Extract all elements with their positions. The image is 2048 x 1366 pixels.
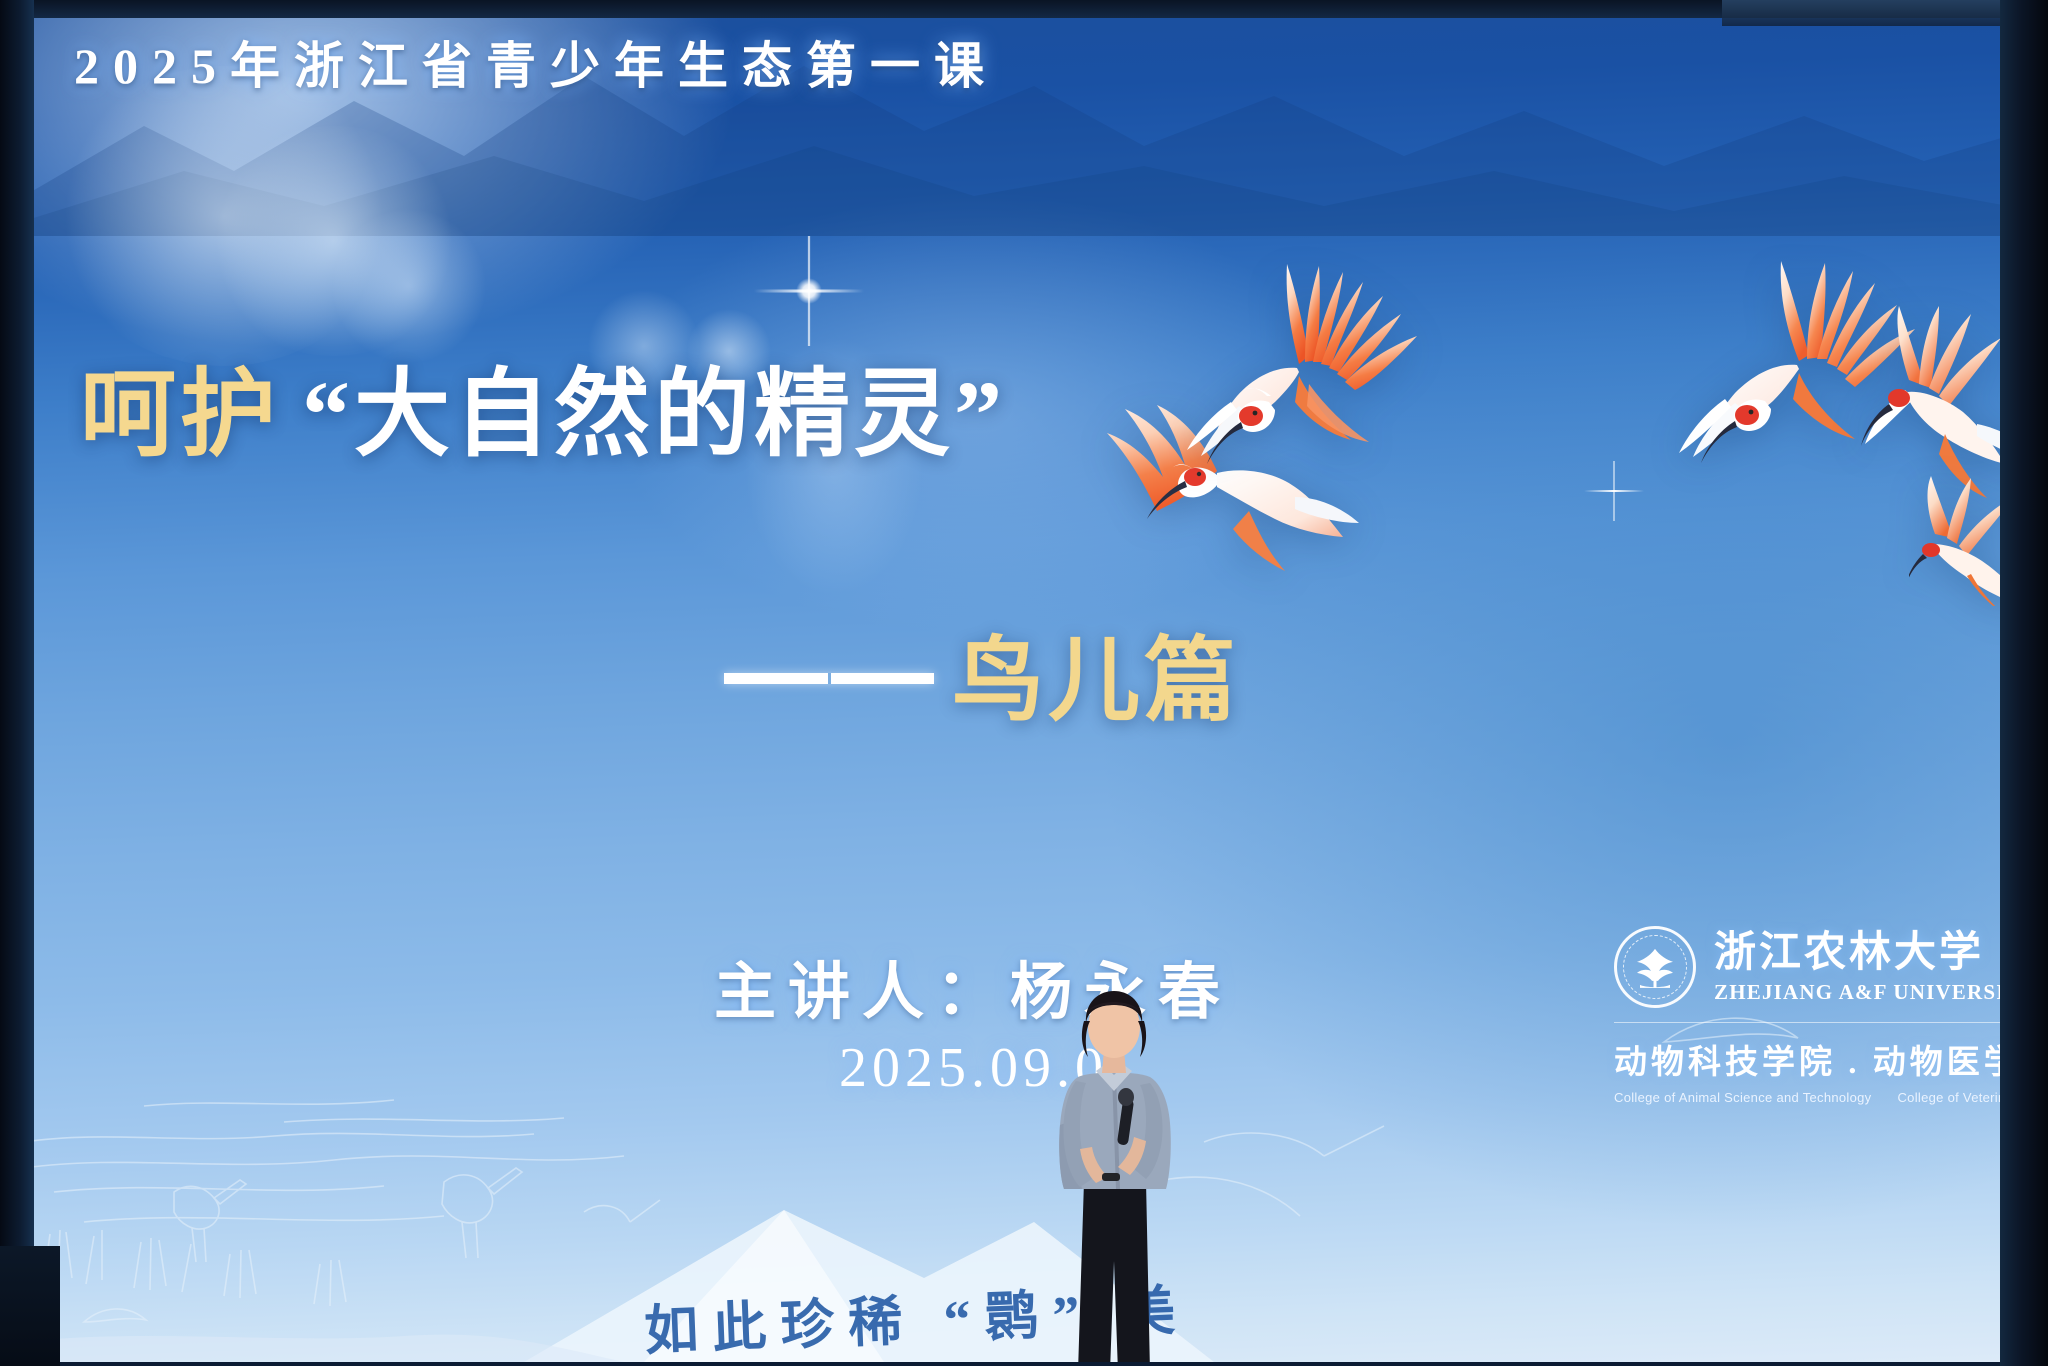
subtitle-text: 鸟儿篇	[952, 630, 1240, 732]
logo-divider	[1614, 1022, 2008, 1023]
crested-ibis-bird	[1909, 476, 2008, 606]
title-gold-part: 呵护	[80, 361, 280, 468]
college-name-en-2: College of Veterinary Medicine	[1897, 1090, 2008, 1105]
ceiling-light-strip	[1722, 0, 2022, 26]
slide-subtitle: 鸟儿篇	[724, 606, 1924, 739]
sparkle-star-icon	[1584, 461, 1644, 521]
slide-header-title: 2025年浙江省青少年生态第一课	[74, 26, 1374, 98]
tree-emblem-icon	[1632, 947, 1678, 989]
college-names-cn: 动物科技学院 . 动物医学院	[1614, 1035, 2008, 1083]
sparkle-star-icon	[754, 236, 864, 346]
screenshot-stage: 2025年浙江省青少年生态第一课 呵护“大自然的精灵” 鸟儿篇 主讲人：杨永春 …	[0, 0, 2048, 1366]
stage-floor	[0, 1246, 60, 1366]
crested-ibis-bird	[1179, 256, 1479, 466]
university-name-en: ZHEJIANG A&F UNIVERSITY	[1714, 982, 2008, 1003]
university-seal-icon	[1614, 926, 1696, 1008]
college-name-en-1: College of Animal Science and Technology	[1614, 1090, 1871, 1105]
title-white-part: “大自然的精灵”	[302, 361, 1006, 468]
right-wall	[2000, 0, 2048, 1366]
em-dash-decoration	[724, 673, 934, 684]
left-wall	[0, 0, 34, 1366]
presenter-person	[1034, 991, 1194, 1362]
university-logo-block: 浙江农林大学 ZHEJIANG A&F UNIVERSITY 动物科技学院 . …	[1614, 926, 2008, 1105]
projection-screen: 2025年浙江省青少年生态第一课 呵护“大自然的精灵” 鸟儿篇 主讲人：杨永春 …	[24, 6, 2008, 1362]
university-name-cn: 浙江农林大学	[1714, 932, 2008, 974]
